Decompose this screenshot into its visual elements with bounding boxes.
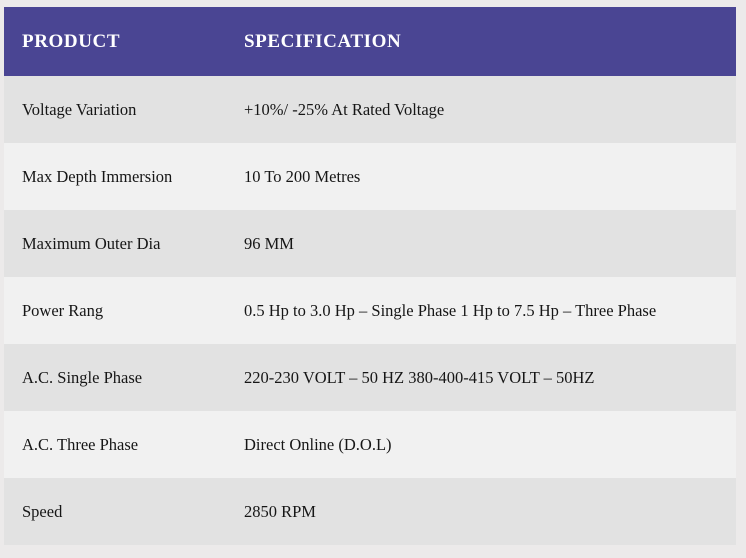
cell-product: Voltage Variation (4, 76, 240, 143)
table-body: Voltage Variation +10%/ -25% At Rated Vo… (4, 76, 736, 545)
page-container: PRODUCT SPECIFICATION Voltage Variation … (0, 0, 746, 558)
table-header-row: PRODUCT SPECIFICATION (4, 7, 736, 76)
table-header: PRODUCT SPECIFICATION (4, 7, 736, 76)
cell-specification: 220-230 VOLT – 50 HZ 380-400-415 VOLT – … (240, 344, 736, 411)
table-row: Speed 2850 RPM (4, 478, 736, 545)
cell-specification: 0.5 Hp to 3.0 Hp – Single Phase 1 Hp to … (240, 277, 736, 344)
cell-product: A.C. Single Phase (4, 344, 240, 411)
cell-product: A.C. Three Phase (4, 411, 240, 478)
product-specification-table: PRODUCT SPECIFICATION Voltage Variation … (4, 7, 736, 545)
column-header-product: PRODUCT (4, 7, 240, 76)
cell-specification: 96 MM (240, 210, 736, 277)
column-header-specification: SPECIFICATION (240, 7, 736, 76)
cell-specification: 10 To 200 Metres (240, 143, 736, 210)
cell-product: Maximum Outer Dia (4, 210, 240, 277)
cell-product: Max Depth Immersion (4, 143, 240, 210)
cell-product: Speed (4, 478, 240, 545)
table-row: Maximum Outer Dia 96 MM (4, 210, 736, 277)
table-row: A.C. Three Phase Direct Online (D.O.L) (4, 411, 736, 478)
table-row: Power Rang 0.5 Hp to 3.0 Hp – Single Pha… (4, 277, 736, 344)
table-row: Voltage Variation +10%/ -25% At Rated Vo… (4, 76, 736, 143)
cell-product: Power Rang (4, 277, 240, 344)
table-row: Max Depth Immersion 10 To 200 Metres (4, 143, 736, 210)
cell-specification: 2850 RPM (240, 478, 736, 545)
table-row: A.C. Single Phase 220-230 VOLT – 50 HZ 3… (4, 344, 736, 411)
cell-specification: +10%/ -25% At Rated Voltage (240, 76, 736, 143)
cell-specification: Direct Online (D.O.L) (240, 411, 736, 478)
